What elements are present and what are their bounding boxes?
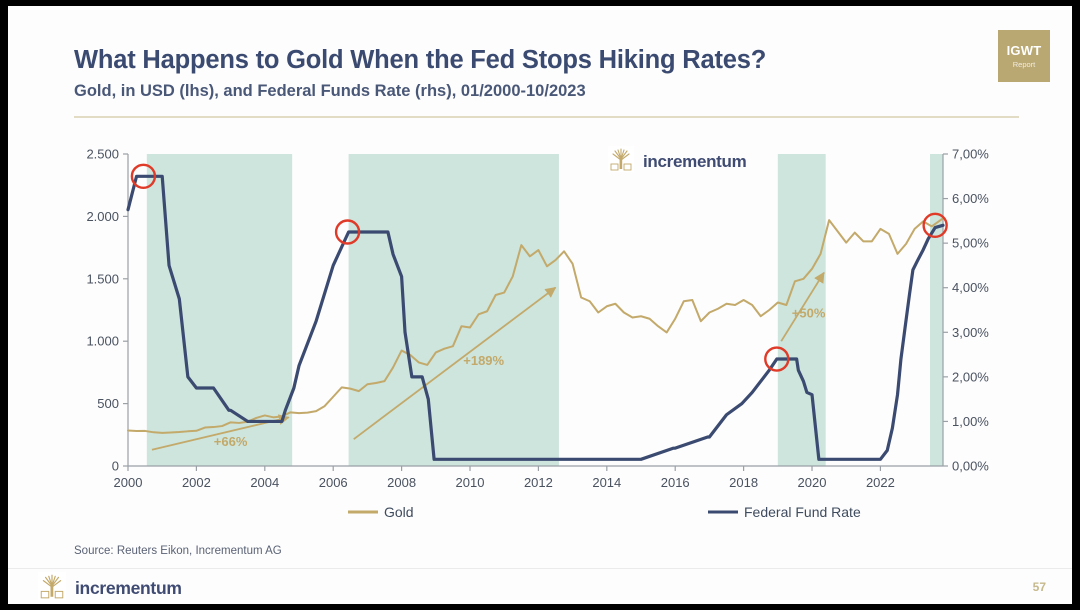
tree-logo-icon (38, 572, 66, 605)
footer-divider (8, 568, 1072, 569)
pause-band-4 (930, 154, 943, 466)
annotation-label: +50% (792, 305, 826, 320)
y-tick-label-right: 2,00% (952, 369, 989, 384)
x-tick-label: 2010 (456, 475, 485, 490)
source-note: Source: Reuters Eikon, Incrementum AG (74, 545, 282, 557)
page-title: What Happens to Gold When the Fed Stops … (74, 46, 766, 75)
igwt-badge-line1: IGWT (1007, 44, 1042, 57)
y-tick-label-right: 4,00% (952, 280, 989, 295)
chart: +66%+189%+50% 05001.0001.5002.0002.5000,… (68, 136, 1028, 521)
y-tick-label-left: 500 (97, 396, 119, 411)
y-tick-label-left: 2.500 (86, 147, 119, 162)
x-tick-label: 2002 (182, 475, 211, 490)
x-tick-label: 2022 (866, 475, 895, 490)
igwt-report-badge: IGWT Report (998, 30, 1050, 82)
y-tick-label-left: 2.000 (86, 209, 119, 224)
annotation-label: +66% (214, 434, 248, 449)
chart-svg: +66%+189%+50% 05001.0001.5002.0002.5000,… (68, 136, 1028, 521)
y-tick-label-right: 6,00% (952, 191, 989, 206)
x-tick-label: 2018 (729, 475, 758, 490)
y-tick-label-left: 0 (112, 459, 119, 474)
legend-label: Gold (384, 504, 414, 520)
y-tick-label-right: 1,00% (952, 414, 989, 429)
x-tick-label: 2020 (798, 475, 827, 490)
page-subtitle: Gold, in USD (lhs), and Federal Funds Ra… (74, 82, 586, 101)
slide: What Happens to Gold When the Fed Stops … (0, 0, 1080, 610)
x-tick-label: 2006 (319, 475, 348, 490)
slide-inner: What Happens to Gold When the Fed Stops … (8, 6, 1072, 604)
igwt-badge-line2: Report (1013, 61, 1036, 69)
x-tick-label: 2004 (250, 475, 279, 490)
y-tick-label-left: 1.000 (86, 334, 119, 349)
x-tick-label: 2016 (661, 475, 690, 490)
annotation-label: +189% (463, 353, 504, 368)
pause-band-1 (147, 154, 292, 466)
chart-legend: GoldFederal Fund Rate (348, 504, 861, 520)
y-tick-label-right: 0,00% (952, 459, 989, 474)
header-divider (74, 116, 1019, 118)
page-number: 57 (1033, 580, 1046, 594)
x-tick-label: 2000 (114, 475, 143, 490)
footer-wordmark: incrementum (75, 578, 182, 599)
legend-label: Federal Fund Rate (744, 504, 861, 520)
y-tick-label-right: 5,00% (952, 236, 989, 251)
footer-brand: incrementum (38, 572, 182, 605)
y-tick-label-left: 1.500 (86, 271, 119, 286)
x-tick-label: 2014 (592, 475, 621, 490)
x-tick-label: 2008 (387, 475, 416, 490)
x-tick-label: 2012 (524, 475, 553, 490)
y-tick-label-right: 7,00% (952, 147, 989, 162)
y-tick-label-right: 3,00% (952, 325, 989, 340)
